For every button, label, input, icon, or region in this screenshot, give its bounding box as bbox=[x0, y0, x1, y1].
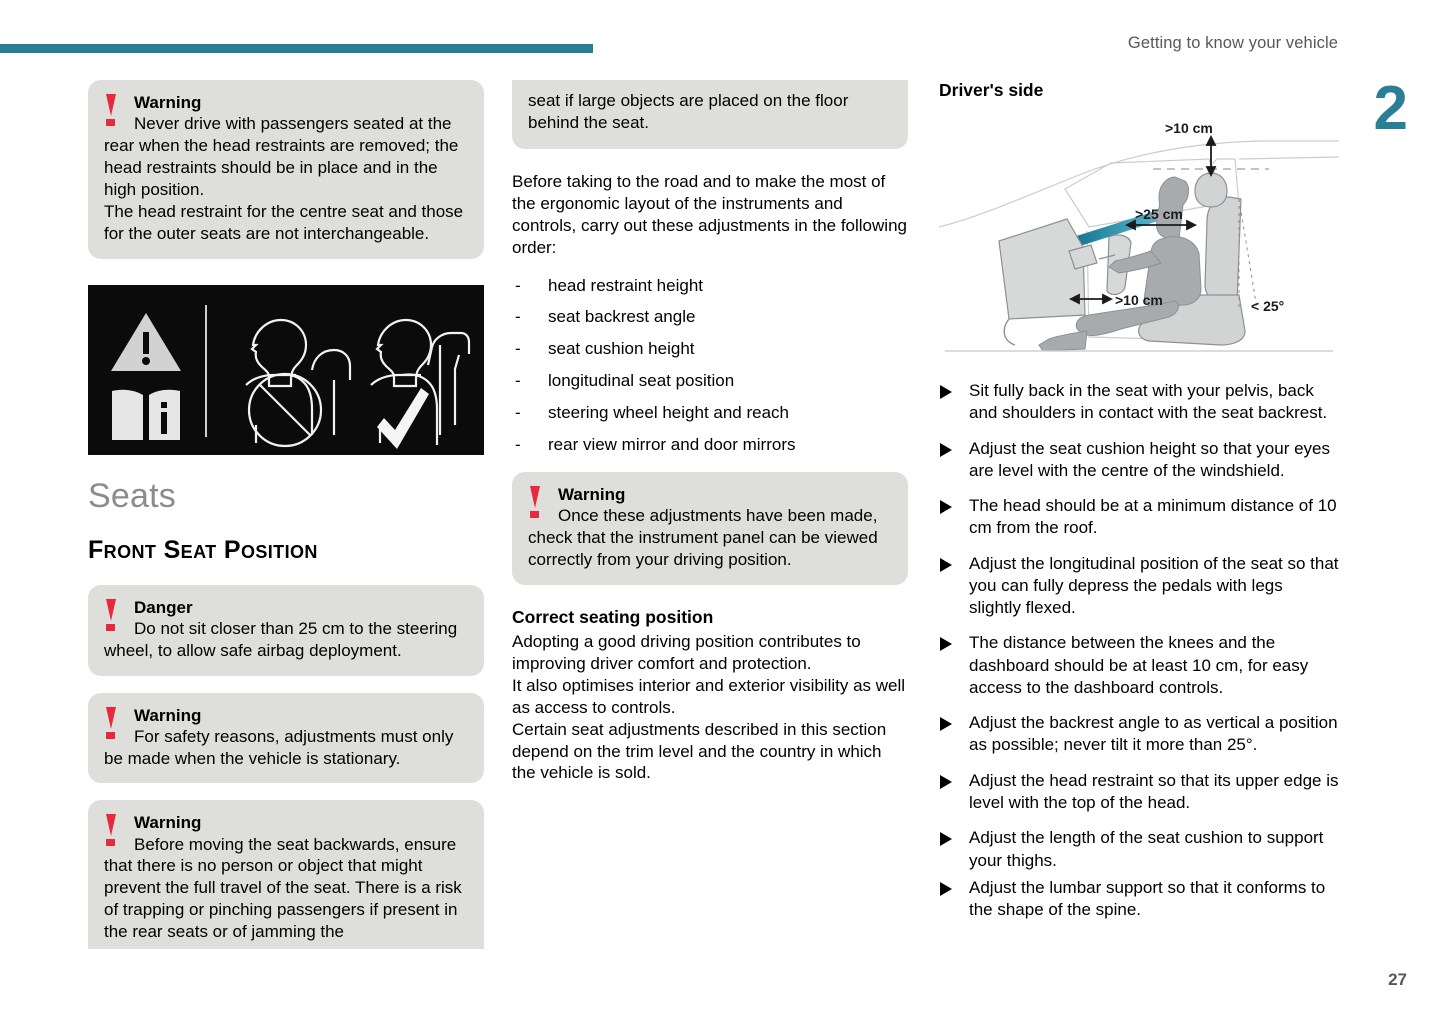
list-item: -steering wheel height and reach bbox=[512, 402, 908, 424]
list-item: Sit fully back in the seat with your pel… bbox=[939, 380, 1339, 425]
list-item-label: Sit fully back in the seat with your pel… bbox=[969, 381, 1327, 422]
list-item: Adjust the longitudinal position of the … bbox=[939, 553, 1339, 620]
list-item-label: Adjust the backrest angle to as vertical… bbox=[969, 713, 1338, 754]
right-column: Driver's side bbox=[939, 80, 1339, 926]
triangle-bullet-icon bbox=[940, 637, 952, 651]
list-item: Adjust the length of the seat cushion to… bbox=[939, 827, 1339, 872]
notice-title: Warning bbox=[558, 484, 892, 505]
warning-box-seat-backwards: Warning Before moving the seat backwards… bbox=[88, 800, 484, 949]
danger-box-steering-wheel: Danger Do not sit closer than 25 cm to t… bbox=[88, 585, 484, 676]
list-item-label: Adjust the lumbar support so that it con… bbox=[969, 878, 1325, 919]
list-item-label: rear view mirror and door mirrors bbox=[548, 435, 796, 454]
notice-title: Warning bbox=[134, 812, 468, 833]
safety-pictogram-panel bbox=[88, 285, 484, 455]
warning-box-stationary: Warning For safety reasons, adjustments … bbox=[88, 693, 484, 784]
list-item-label: longitudinal seat position bbox=[548, 371, 734, 390]
list-item-label: The head should be at a minimum distance… bbox=[969, 496, 1337, 537]
driver-seating-position-diagram: >10 cm >25 cm >10 cm < 25° bbox=[939, 119, 1339, 354]
incorrect-seat-icon bbox=[246, 320, 350, 446]
dash-marker: - bbox=[515, 275, 521, 297]
checkmark-icon bbox=[377, 388, 429, 449]
sub-heading-front-seat-position: Front Seat Position bbox=[88, 536, 484, 565]
notice-body: Do not sit closer than 25 cm to the stee… bbox=[104, 618, 468, 662]
backrest-angle-reference bbox=[1239, 199, 1257, 309]
adjustment-order-list: -head restraint height -seat backrest an… bbox=[512, 275, 908, 457]
page-number: 27 bbox=[1388, 970, 1407, 990]
running-head: Getting to know your vehicle bbox=[1128, 34, 1338, 53]
exclamation-icon bbox=[529, 486, 540, 518]
left-column: Warning Never drive with passengers seat… bbox=[88, 80, 484, 949]
callout-backrest-angle: < 25° bbox=[1251, 298, 1284, 314]
warning-box-head-restraints: Warning Never drive with passengers seat… bbox=[88, 80, 484, 259]
intro-paragraph: Before taking to the road and to make th… bbox=[512, 171, 908, 259]
list-item: -head restraint height bbox=[512, 275, 908, 297]
list-item: Adjust the backrest angle to as vertical… bbox=[939, 712, 1339, 757]
notice-body: Before moving the seat backwards, ensure… bbox=[104, 834, 468, 944]
triangle-bullet-icon bbox=[940, 443, 952, 457]
dash-marker: - bbox=[515, 402, 521, 424]
triangle-bullet-icon bbox=[940, 500, 952, 514]
list-item-label: Adjust the seat cushion height so that y… bbox=[969, 439, 1330, 480]
notice-title: Danger bbox=[134, 597, 468, 618]
notice-title: Warning bbox=[134, 92, 468, 113]
list-item: The distance between the knees and the d… bbox=[939, 632, 1339, 699]
triangle-bullet-icon bbox=[940, 385, 952, 399]
callout-roof-clearance: >10 cm bbox=[1165, 120, 1213, 136]
diagram-graphics: >10 cm >25 cm >10 cm < 25° bbox=[939, 119, 1339, 354]
page-title: Seats bbox=[88, 477, 484, 516]
list-item-label: steering wheel height and reach bbox=[548, 403, 789, 422]
notice-body: Once these adjustments have been made, c… bbox=[528, 505, 892, 571]
list-item-label: seat cushion height bbox=[548, 339, 695, 358]
notice-body: For safety reasons, adjustments must onl… bbox=[104, 726, 468, 770]
callout-knee-clearance: >10 cm bbox=[1115, 292, 1163, 308]
list-item: -rear view mirror and door mirrors bbox=[512, 434, 908, 456]
triangle-bullet-icon bbox=[940, 558, 952, 572]
list-item: -seat backrest angle bbox=[512, 306, 908, 328]
header-accent-bar bbox=[0, 44, 593, 53]
notice-body: Never drive with passengers seated at th… bbox=[104, 113, 468, 201]
correct-seating-paragraph-1: Adopting a good driving position contrib… bbox=[512, 631, 908, 675]
list-item-label: The distance between the knees and the d… bbox=[969, 633, 1308, 697]
heading-correct-seating-position: Correct seating position bbox=[512, 607, 908, 628]
dash-marker: - bbox=[515, 370, 521, 392]
list-item: -seat cushion height bbox=[512, 338, 908, 360]
list-item: The head should be at a minimum distance… bbox=[939, 495, 1339, 540]
heading-drivers-side: Driver's side bbox=[939, 80, 1339, 101]
list-item: Adjust the lumbar support so that it con… bbox=[939, 877, 1339, 922]
notice-body-secondary: The head restraint for the centre seat a… bbox=[104, 201, 468, 245]
dash-marker: - bbox=[515, 434, 521, 456]
pictogram-graphics bbox=[88, 285, 484, 455]
head-restraint bbox=[1195, 173, 1227, 207]
triangle-bullet-icon bbox=[940, 717, 952, 731]
correct-seating-paragraph-2: It also optimises interior and exterior … bbox=[512, 675, 908, 719]
list-item-label: Adjust the length of the seat cushion to… bbox=[969, 828, 1323, 869]
warning-box-instrument-panel: Warning Once these adjustments have been… bbox=[512, 472, 908, 585]
triangle-bullet-icon bbox=[940, 775, 952, 789]
list-item: Adjust the head restraint so that its up… bbox=[939, 770, 1339, 815]
exclamation-icon bbox=[105, 707, 116, 739]
pictogram-divider bbox=[205, 305, 207, 437]
list-item-label: Adjust the longitudinal position of the … bbox=[969, 554, 1339, 618]
list-item: Adjust the seat cushion height so that y… bbox=[939, 438, 1339, 483]
notice-body: seat if large objects are placed on the … bbox=[528, 90, 892, 134]
list-item-label: Adjust the head restraint so that its up… bbox=[969, 771, 1339, 812]
warning-box-continued: seat if large objects are placed on the … bbox=[512, 80, 908, 149]
dash-marker: - bbox=[515, 306, 521, 328]
exclamation-icon bbox=[105, 94, 116, 126]
callout-steering-wheel-distance: >25 cm bbox=[1135, 206, 1183, 222]
triangle-bullet-icon bbox=[940, 882, 952, 896]
exclamation-icon bbox=[105, 814, 116, 846]
exclamation-icon bbox=[105, 599, 116, 631]
open-book-info-icon bbox=[112, 389, 180, 439]
notice-title: Warning bbox=[134, 705, 468, 726]
list-item: -longitudinal seat position bbox=[512, 370, 908, 392]
driving-position-instructions: Sit fully back in the seat with your pel… bbox=[939, 380, 1339, 921]
middle-column: seat if large objects are placed on the … bbox=[512, 80, 908, 784]
correct-seating-paragraph-3: Certain seat adjustments described in th… bbox=[512, 719, 908, 785]
dashboard-shape bbox=[999, 219, 1097, 319]
dash-marker: - bbox=[515, 338, 521, 360]
triangle-bullet-icon bbox=[940, 832, 952, 846]
list-item-label: head restraint height bbox=[548, 276, 703, 295]
list-item-label: seat backrest angle bbox=[548, 307, 695, 326]
pedal bbox=[1004, 319, 1015, 345]
warning-triangle-icon bbox=[111, 313, 181, 371]
chapter-number: 2 bbox=[1374, 78, 1407, 140]
